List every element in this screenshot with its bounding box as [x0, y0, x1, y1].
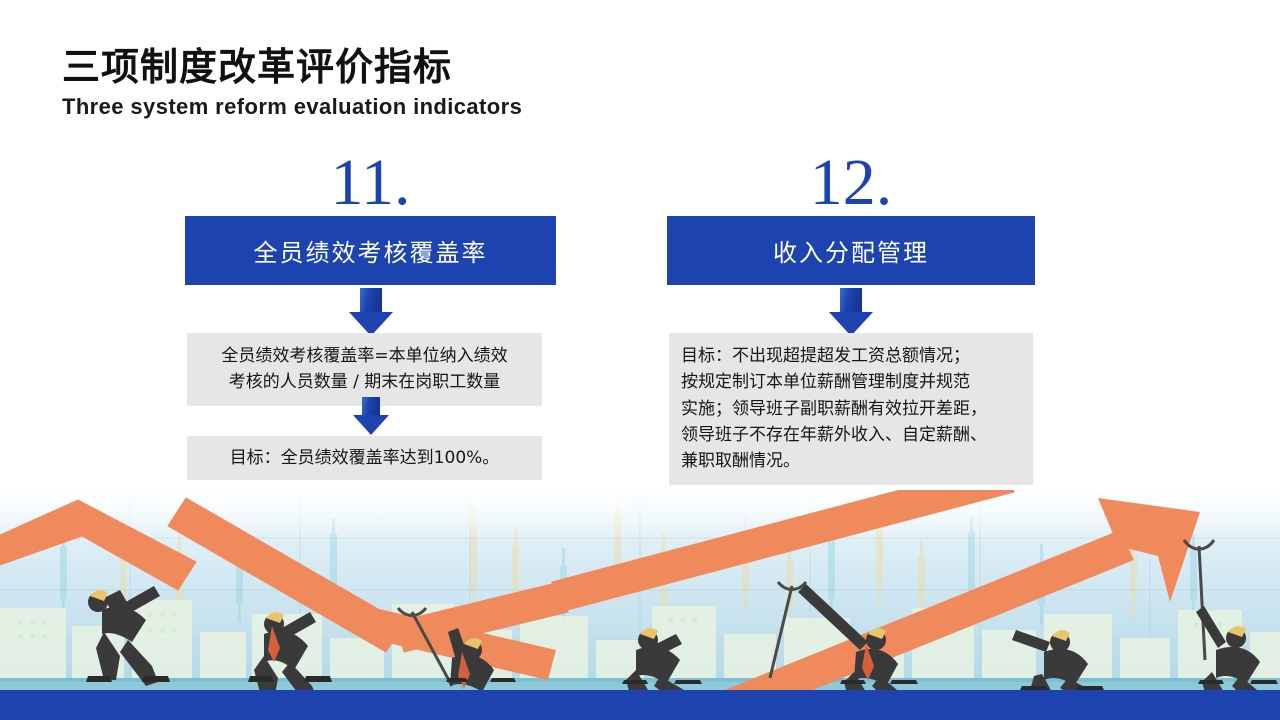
- page-title-chinese: 三项制度改革评价指标: [62, 47, 522, 90]
- goal-line: 按规定制订本单位薪酬管理制度并规范: [681, 369, 1021, 395]
- formula-line: 考核的人员数量 / 期末在岗职工数量: [199, 369, 530, 395]
- slide-canvas: 三项制度改革评价指标 Three system reform evaluatio…: [0, 0, 1280, 720]
- page-title-english: Three system reform evaluation indicator…: [62, 94, 522, 120]
- formula-panel-11: 全员绩效考核覆盖率=本单位纳入绩效 考核的人员数量 / 期末在岗职工数量: [187, 333, 542, 406]
- down-arrow-icon: [829, 288, 873, 336]
- indicator-header-11[interactable]: 全员绩效考核覆盖率: [185, 216, 556, 285]
- down-arrow-icon: [353, 397, 389, 435]
- background-illustration: [0, 490, 1280, 720]
- goal-panel-11: 目标：全员绩效覆盖率达到100%。: [187, 436, 542, 480]
- bottom-accent-bar: [0, 690, 1280, 720]
- goal-line: 领导班子不存在年薪外收入、自定薪酬、: [681, 422, 1021, 448]
- indicator-header-12[interactable]: 收入分配管理: [667, 216, 1035, 285]
- formula-line: 全员绩效考核覆盖率=本单位纳入绩效: [199, 343, 530, 369]
- indicator-number-12: 12.: [667, 150, 1035, 216]
- goal-line: 目标：全员绩效覆盖率达到100%。: [199, 445, 530, 471]
- down-arrow-icon: [349, 288, 393, 336]
- page-title: 三项制度改革评价指标 Three system reform evaluatio…: [62, 47, 522, 120]
- goal-panel-12: 目标：不出现超提超发工资总额情况； 按规定制订本单位薪酬管理制度并规范 实施；领…: [669, 333, 1033, 485]
- goal-line: 兼职取酬情况。: [681, 448, 1021, 474]
- goal-line: 目标：不出现超提超发工资总额情况；: [681, 343, 1021, 369]
- goal-line: 实施；领导班子副职薪酬有效拉开差距，: [681, 396, 1021, 422]
- indicator-number-11: 11.: [185, 150, 556, 216]
